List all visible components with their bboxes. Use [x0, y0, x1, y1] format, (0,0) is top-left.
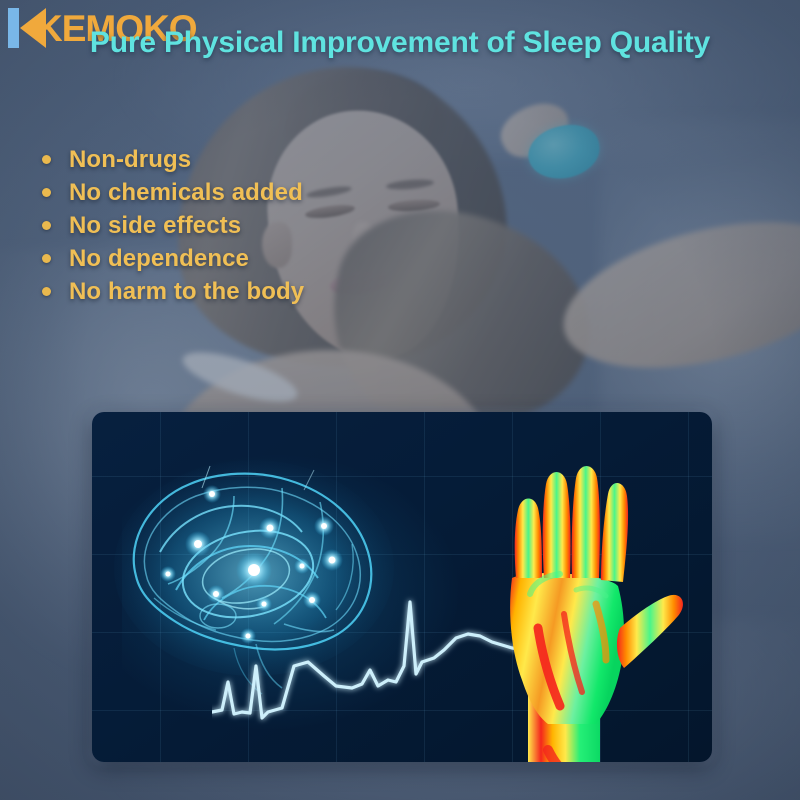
benefit-label: No side effects	[69, 212, 241, 240]
bullet-dot-icon	[42, 221, 51, 230]
list-item: No chemicals added	[42, 176, 304, 209]
list-item: Non-drugs	[42, 143, 304, 176]
thermal-hand-icon	[472, 428, 692, 762]
bullet-dot-icon	[42, 188, 51, 197]
bullet-dot-icon	[42, 287, 51, 296]
benefit-label: No dependence	[69, 245, 249, 273]
page-title: Pure Physical Improvement of Sleep Quali…	[0, 26, 800, 60]
list-item: No harm to the body	[42, 275, 304, 308]
bullet-dot-icon	[42, 155, 51, 164]
bullet-dot-icon	[42, 254, 51, 263]
tech-illustration-panel	[92, 412, 712, 762]
benefit-label: No harm to the body	[69, 278, 304, 306]
benefits-list: Non-drugs No chemicals added No side eff…	[42, 143, 304, 308]
benefit-label: Non-drugs	[69, 146, 191, 174]
promotional-banner: KEMOKO Pure Physical Improvement of Slee…	[0, 0, 800, 800]
benefit-label: No chemicals added	[69, 179, 303, 207]
list-item: No dependence	[42, 242, 304, 275]
list-item: No side effects	[42, 209, 304, 242]
